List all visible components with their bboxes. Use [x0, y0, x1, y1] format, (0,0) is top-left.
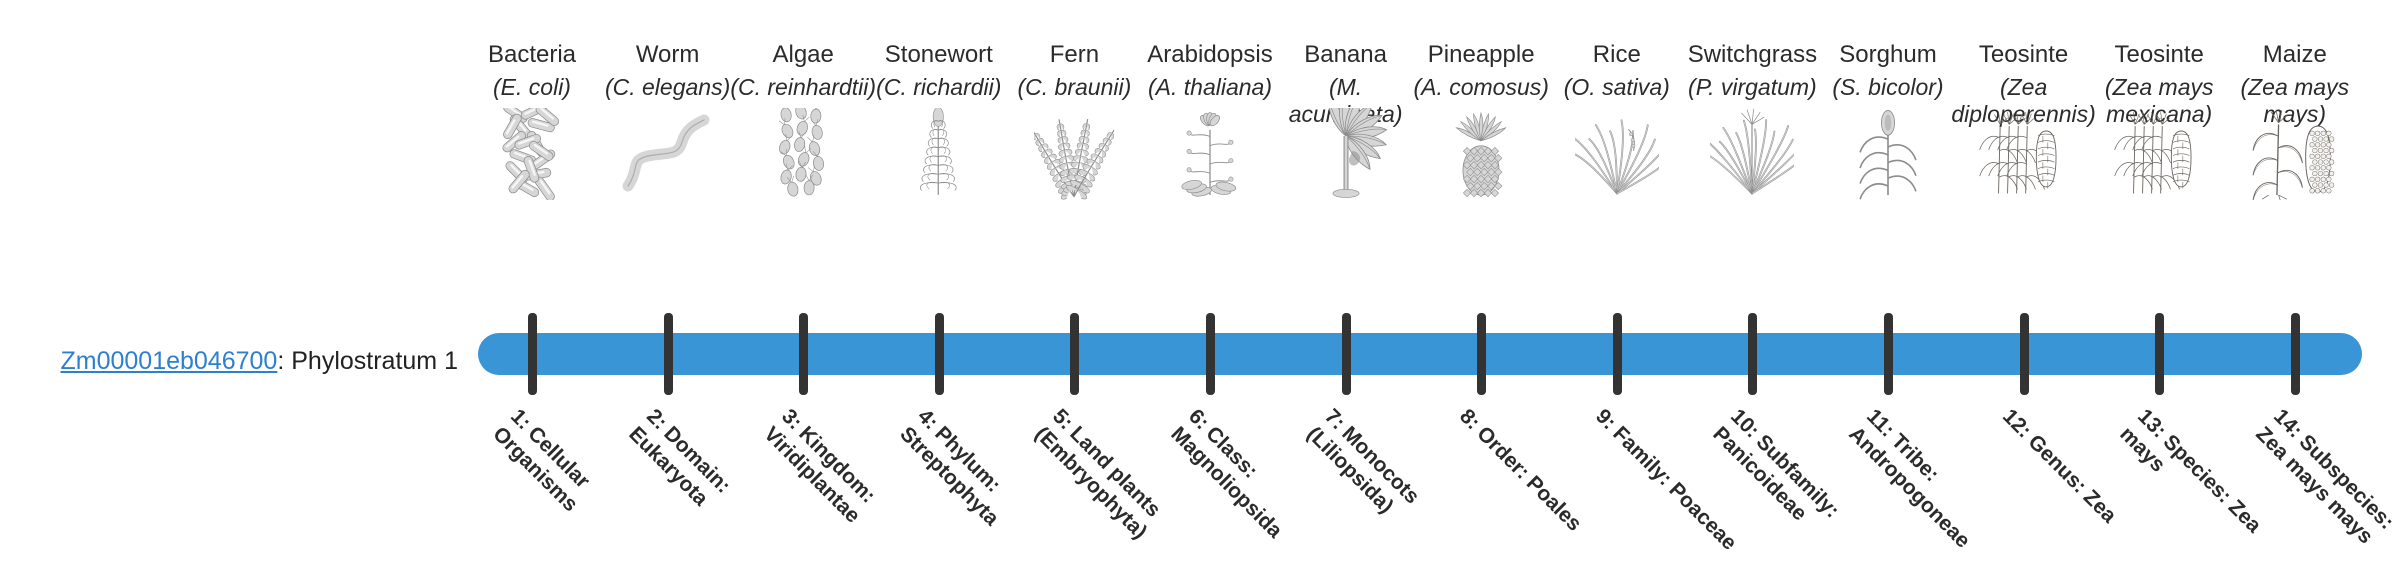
- species-scientific-name: (A. comosus): [1406, 74, 1556, 101]
- species-common-name: Arabidopsis: [1135, 40, 1285, 70]
- species-scientific-name: (E. coli): [457, 74, 607, 101]
- species-common-name: Banana: [1271, 40, 1421, 70]
- species-column: Fern (C. braunii): [999, 0, 1149, 580]
- rice-plant-icon: [1542, 108, 1692, 200]
- species-scientific-name: (O. sativa): [1542, 74, 1692, 101]
- phylostratum-tick[interactable]: [1748, 313, 1757, 395]
- species-scientific-name: (C. braunii): [999, 74, 1149, 101]
- teosinte-plant-icon: [1949, 108, 2099, 200]
- gene-id-link[interactable]: Zm00001eb046700: [60, 347, 277, 375]
- fern-frond-icon: [999, 108, 1149, 200]
- gene-label-separator: :: [277, 347, 291, 375]
- species-scientific-name: (P. virgatum): [1677, 74, 1827, 101]
- species-common-name: Worm: [593, 40, 743, 70]
- species-column: Switchgrass (P. virgatum): [1677, 0, 1827, 580]
- species-scientific-name: (A. thaliana): [1135, 74, 1285, 101]
- species-common-name: Algae: [728, 40, 878, 70]
- phylostratum-tick[interactable]: [2020, 313, 2029, 395]
- nematode-worm-icon: [593, 108, 743, 200]
- species-common-name: Fern: [999, 40, 1149, 70]
- phylostratum-tick[interactable]: [799, 313, 808, 395]
- teosinte-plant-icon: [2084, 108, 2234, 200]
- species-column: Algae (C. reinhardtii): [728, 0, 878, 580]
- phylostratum-value: Phylostratum 1: [291, 347, 458, 375]
- species-column: Maize (Zea mays mays) 14: Subspecies: Ze…: [2220, 0, 2370, 580]
- species-column: Rice (O. sativa): [1542, 0, 1692, 580]
- species-column: Teosinte (Zea diploperennis) 12: Genus: …: [1949, 0, 2099, 580]
- species-common-name: Switchgrass: [1677, 40, 1827, 70]
- species-common-name: Maize: [2220, 40, 2370, 70]
- arabidopsis-plant-icon: [1135, 108, 1285, 200]
- species-column: Banana (M. acuminata) 7: Mon: [1271, 0, 1421, 580]
- phylostratum-tick[interactable]: [1613, 313, 1622, 395]
- phylostratigraphy-figure: Zm00001eb046700: Phylostratum 1 Bacteria…: [0, 0, 2400, 580]
- species-column: Bacteria (E. coli): [457, 0, 607, 580]
- algae-cells-icon: [728, 108, 878, 200]
- species-scientific-name: (C. richardii): [864, 74, 1014, 101]
- stonewort-plant-icon: [864, 108, 1014, 200]
- phylostratum-tick[interactable]: [2291, 313, 2300, 395]
- phylostratum-tick[interactable]: [1342, 313, 1351, 395]
- phylostratum-tick[interactable]: [1477, 313, 1486, 395]
- gene-phylostratum-label: Zm00001eb046700: Phylostratum 1: [28, 346, 458, 376]
- banana-tree-icon: [1271, 108, 1421, 200]
- species-scientific-name: (C. reinhardtii): [728, 74, 878, 101]
- species-column: Teosinte (Zea mays mexicana) 13: Species…: [2084, 0, 2234, 580]
- phylostratum-tick[interactable]: [2155, 313, 2164, 395]
- species-scientific-name: (C. elegans): [593, 74, 743, 101]
- species-common-name: Pineapple: [1406, 40, 1556, 70]
- pineapple-fruit-icon: [1406, 108, 1556, 200]
- species-column: Worm (C. elegans) 2: Domain: Eukaryota: [593, 0, 743, 580]
- switchgrass-plant-icon: [1677, 108, 1827, 200]
- phylostratum-tick[interactable]: [664, 313, 673, 395]
- species-common-name: Rice: [1542, 40, 1692, 70]
- species-column: Stonewort (C. richardii): [864, 0, 1014, 580]
- phylostratum-tick[interactable]: [528, 313, 537, 395]
- species-common-name: Teosinte: [2084, 40, 2234, 70]
- maize-plant-icon: [2220, 108, 2370, 200]
- species-common-name: Bacteria: [457, 40, 607, 70]
- phylostratum-label: 14: Subspecies: Zea mays mays: [2250, 404, 2400, 578]
- species-common-name: Sorghum: [1813, 40, 1963, 70]
- bacteria-rods-icon: [457, 108, 607, 200]
- sorghum-plant-icon: [1813, 108, 1963, 200]
- species-column: Sorghum (S. bicolor) 11: Tribe: Andropog…: [1813, 0, 1963, 580]
- species-common-name: Stonewort: [864, 40, 1014, 70]
- phylostratum-tick[interactable]: [935, 313, 944, 395]
- species-column: Arabidopsis (A. thaliana) 6: Class: Magn…: [1135, 0, 1285, 580]
- phylostratum-tick[interactable]: [1884, 313, 1893, 395]
- species-scientific-name: (S. bicolor): [1813, 74, 1963, 101]
- phylostratum-tick[interactable]: [1206, 313, 1215, 395]
- species-common-name: Teosinte: [1949, 40, 2099, 70]
- species-column: Pineapple (A. comosus) 8: Order: Poales: [1406, 0, 1556, 580]
- phylostratum-tick[interactable]: [1070, 313, 1079, 395]
